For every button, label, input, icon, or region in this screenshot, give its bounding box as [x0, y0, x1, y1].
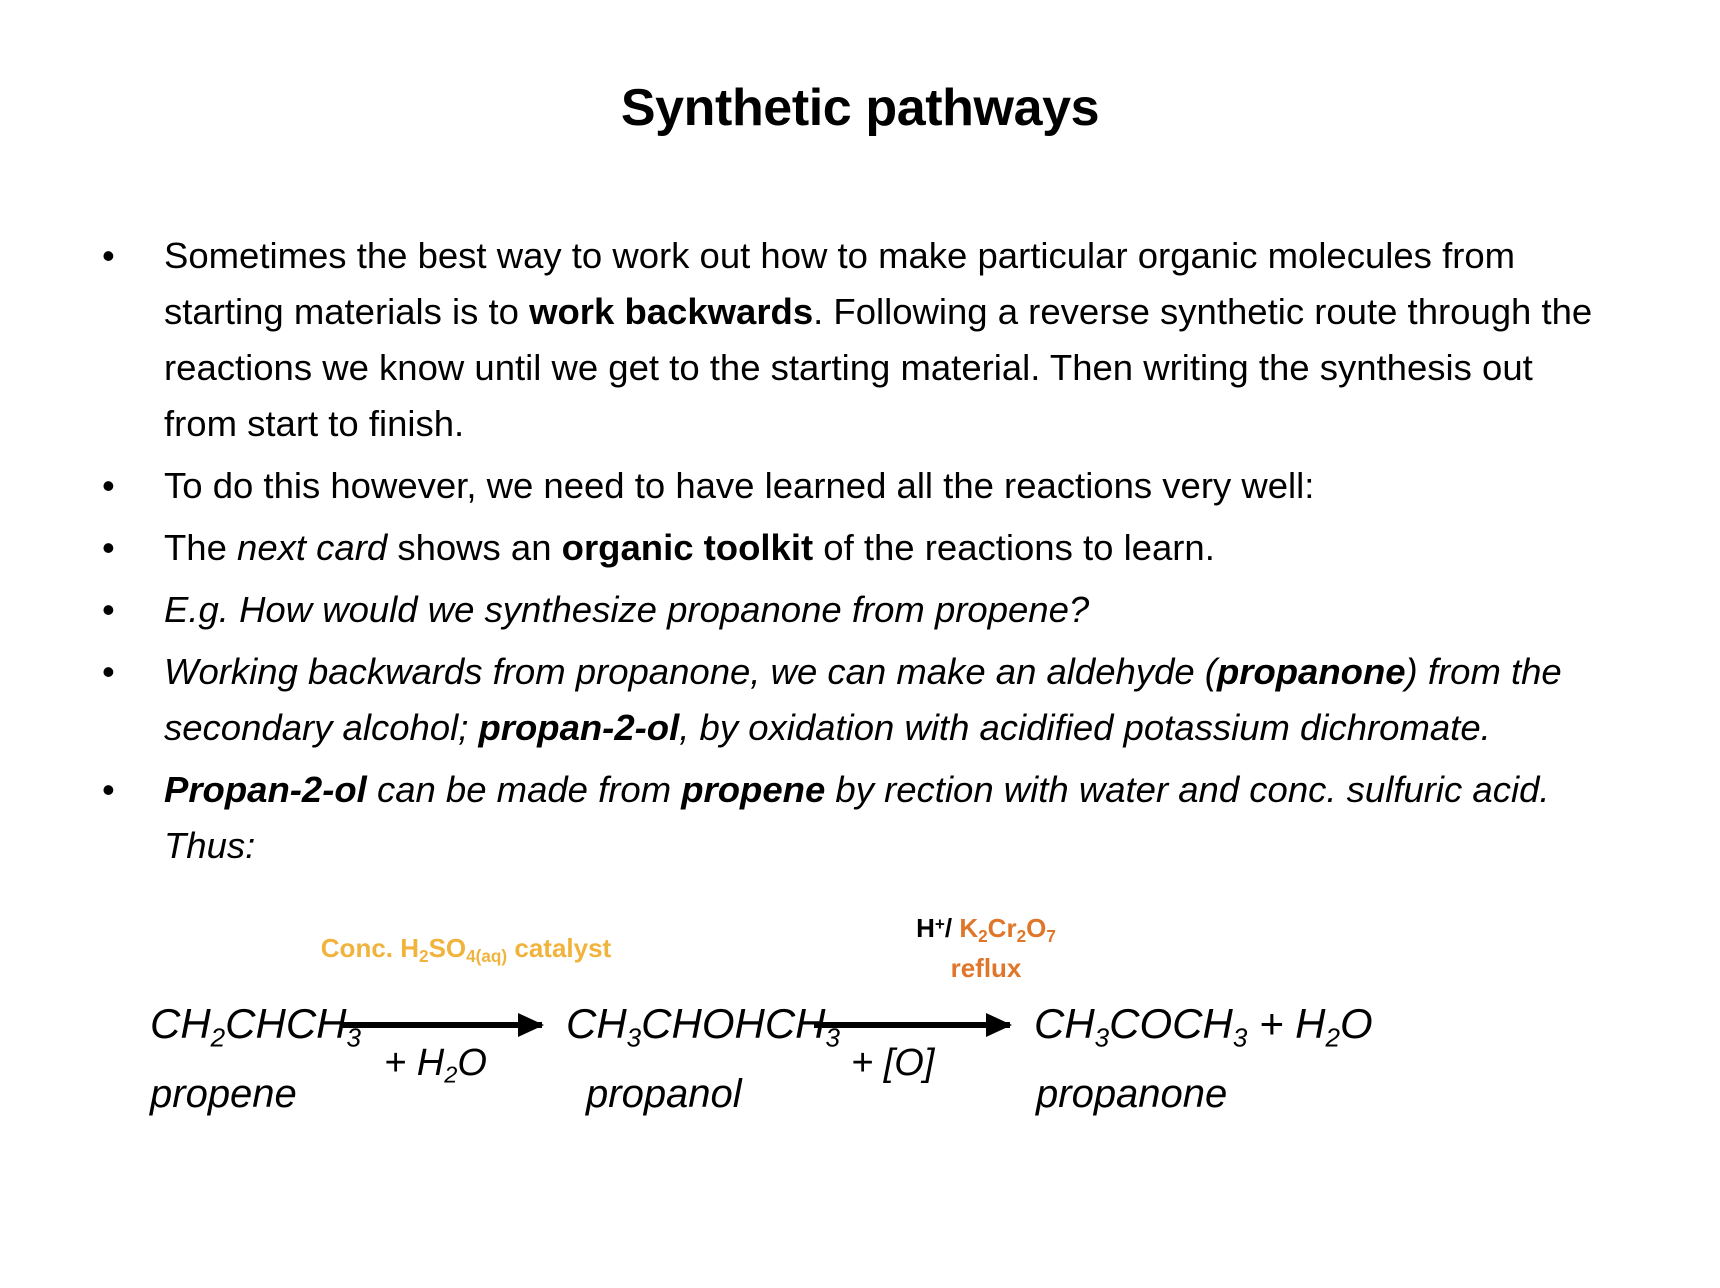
reagent-water: + H2O — [384, 1040, 487, 1098]
reaction-condition-step2: H+/ K2Cr2O7 reflux — [836, 908, 1136, 984]
condition-step2-line1: H+/ K2Cr2O7 — [916, 913, 1056, 943]
list-item: • Propan-2-ol can be made from propene b… — [96, 762, 1596, 874]
bullet-text-organic-toolkit: The next card shows an organic toolkit o… — [164, 520, 1596, 576]
bullet-text-example-question: E.g. How would we synthesize propanone f… — [164, 582, 1596, 638]
condition-step2-oxidant: K2Cr2O7 — [952, 913, 1056, 943]
species-name-propanol: propanol — [586, 1070, 742, 1118]
list-item: • Working backwards from propanone, we c… — [96, 644, 1596, 756]
page-title: Synthetic pathways — [0, 78, 1720, 138]
list-item: • E.g. How would we synthesize propanone… — [96, 582, 1596, 638]
bullet-list: • Sometimes the best way to work out how… — [96, 228, 1596, 880]
formula-propene: CH2CHCH3 — [150, 998, 361, 1063]
list-item: • To do this however, we need to have le… — [96, 458, 1596, 514]
bullet-marker: • — [102, 458, 115, 514]
formula-propanone: CH3COCH3 + H2O — [1034, 998, 1373, 1063]
reaction-scheme: Conc. H2SO4(aq) catalyst H+/ K2Cr2O7 ref… — [96, 900, 1656, 1160]
bullet-marker: • — [102, 520, 115, 576]
bullet-text-working-backwards-detail: Working backwards from propanone, we can… — [164, 644, 1596, 756]
bullet-marker: • — [102, 762, 115, 818]
bullet-marker: • — [102, 582, 115, 638]
list-item: • The next card shows an organic toolkit… — [96, 520, 1596, 576]
reaction-arrow-step1 — [342, 1022, 542, 1028]
reaction-arrow-step2 — [814, 1022, 1010, 1028]
condition-step2-reflux: reflux — [836, 952, 1136, 984]
reagent-oxidant: + [O] — [851, 1040, 934, 1086]
bullet-marker: • — [102, 228, 115, 284]
condition-step2-acid: H+/ — [916, 913, 952, 943]
formula-propanol: CH3CHOHCH3 — [566, 998, 840, 1063]
slide-canvas: Synthetic pathways • Sometimes the best … — [0, 0, 1720, 1288]
bullet-text-propan-2-ol-from-propene: Propan-2-ol can be made from propene by … — [164, 762, 1596, 874]
bullet-text-work-backwards: Sometimes the best way to work out how t… — [164, 228, 1596, 452]
bullet-text-learn-reactions: To do this however, we need to have lear… — [164, 458, 1596, 514]
list-item: • Sometimes the best way to work out how… — [96, 228, 1596, 452]
species-name-propanone: propanone — [1036, 1070, 1227, 1118]
species-name-propene: propene — [150, 1070, 297, 1118]
reaction-condition-step1: Conc. H2SO4(aq) catalyst — [296, 932, 636, 972]
bullet-marker: • — [102, 644, 115, 700]
